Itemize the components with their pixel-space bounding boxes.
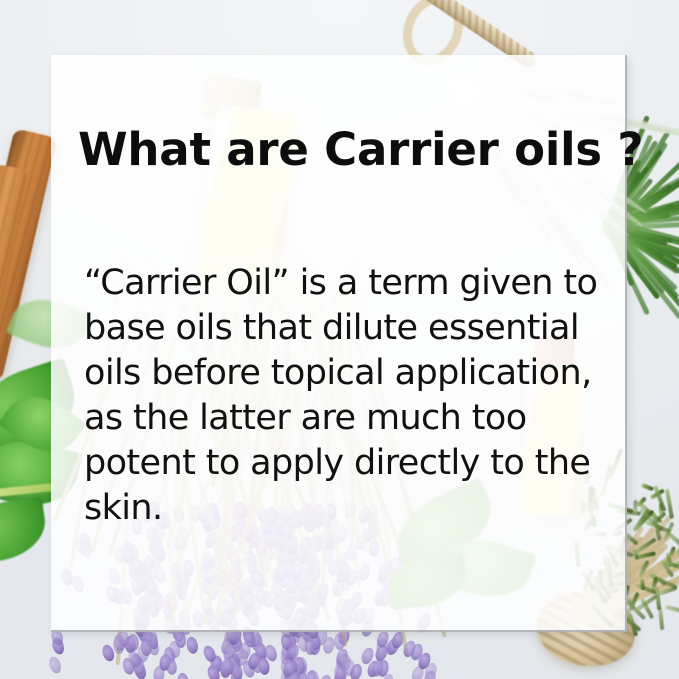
content-card: What are Carrier oils ? “Carrier Oil” is…: [51, 55, 627, 632]
thyme-leaf-icon: [665, 489, 674, 519]
thyme-leaf-icon: [658, 606, 664, 630]
infographic-canvas: What are Carrier oils ? “Carrier Oil” is…: [0, 0, 679, 679]
thyme-leaf-icon: [665, 605, 679, 614]
thyme-leaf-icon: [641, 483, 654, 491]
lavender-bud-icon: [176, 671, 190, 679]
lavender-bud-icon: [306, 669, 320, 679]
page-title: What are Carrier oils ?: [78, 123, 643, 176]
body-paragraph: “Carrier Oil” is a term given to base oi…: [84, 261, 614, 531]
lavender-bud-icon: [319, 674, 334, 679]
lavender-bud-icon: [185, 635, 199, 654]
